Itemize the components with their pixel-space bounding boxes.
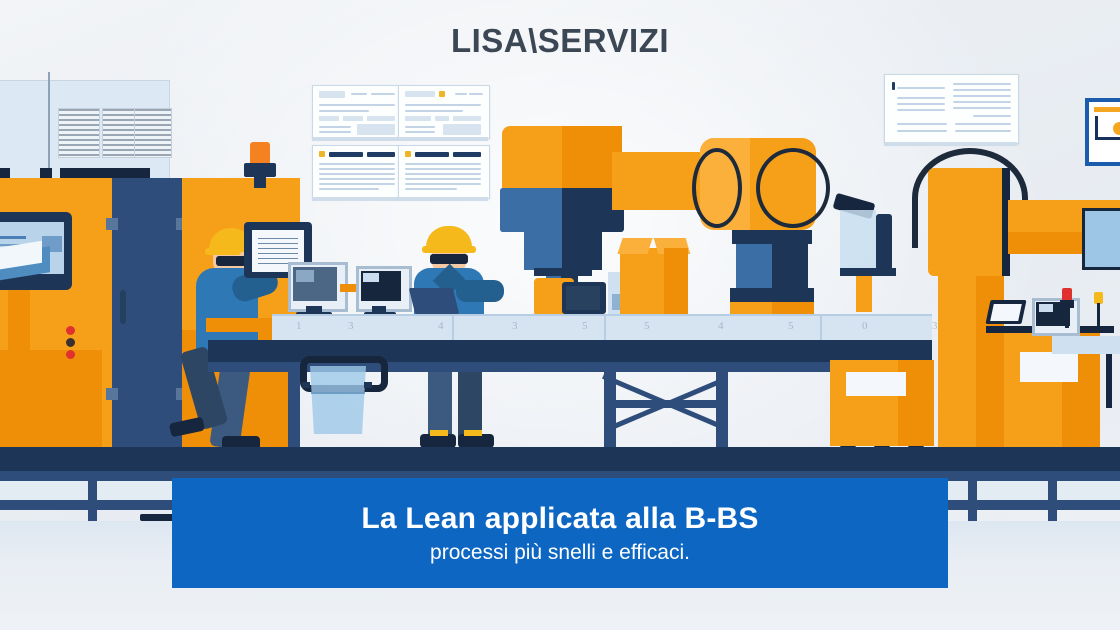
belt-mark-9: 3 [932, 320, 938, 332]
conveyor-device-screen [566, 286, 600, 310]
belt-mark-4: 5 [582, 320, 588, 332]
monitor-2-screen-win [363, 273, 379, 282]
cardboard-box-shade [664, 248, 688, 316]
conveyor-leg-1 [288, 372, 300, 448]
wall-chart-poster [1085, 98, 1120, 166]
banner-subtitle: processi più snelli e efficaci. [430, 541, 690, 564]
robot-gripper-rail [840, 268, 896, 276]
robot-base-upper [732, 230, 812, 244]
press-ram-plate [534, 268, 592, 276]
cardboard-box-flap-left [617, 238, 652, 254]
status-lamp-dark [66, 338, 75, 347]
machine-door-handle [120, 290, 126, 324]
robot-gripper-body [876, 214, 892, 270]
vent-grille-3 [134, 108, 172, 158]
robot-base-plate [730, 288, 814, 302]
spindle-holder [244, 163, 276, 177]
worker-left-helmet-brim [205, 248, 241, 255]
worker-center-arm [456, 280, 504, 302]
status-lamp-red-bottom [66, 350, 75, 359]
hmi-screen-line-1 [0, 236, 26, 239]
panel-divider [48, 72, 50, 170]
belt-mark-0: 1 [296, 320, 302, 332]
status-lamp-red-top [66, 326, 75, 335]
wall-poster-3 [312, 145, 404, 199]
robot-gripper-part [840, 210, 876, 268]
worker-center-laptop [409, 288, 459, 314]
robot-gripper-post [856, 276, 872, 312]
banner-title: La Lean applicata alla B-BS [361, 502, 758, 535]
waste-bin-clip-right [364, 382, 372, 388]
signal-lamp-yellow-pole [1097, 303, 1100, 329]
wall-poster-2-shadow [398, 137, 488, 141]
monitor-1-screen-win [296, 270, 314, 282]
conveyor-belt-seam-3 [820, 314, 822, 340]
belt-mark-6: 4 [718, 320, 724, 332]
wall-poster-1-shadow [312, 137, 402, 141]
workstation-monitor-screen-win [1039, 304, 1053, 312]
worker-center-shoecap-left [430, 430, 448, 436]
spindle-shaft [254, 176, 266, 188]
worker-center-shoe-right [458, 434, 494, 448]
belt-mark-7: 5 [788, 320, 794, 332]
machine-body-left-shade [0, 350, 102, 453]
floor-rail-post-6 [968, 471, 977, 521]
title-banner: La Lean applicata alla B-BS processi più… [172, 478, 948, 588]
belt-mark-5: 5 [644, 320, 650, 332]
machine-door-hinge-top [106, 218, 118, 230]
worker-center-shoecap-right [464, 430, 482, 436]
conveyor-belt-seam-2 [604, 314, 606, 340]
machine-door-hinge-bottom [106, 388, 118, 400]
worker-left-doc-lines [258, 238, 298, 264]
wall-poster-1 [312, 85, 404, 139]
robot2-head [928, 168, 1010, 276]
workstation-cabinet-label [1020, 352, 1078, 382]
conveyor-belt-surface [272, 314, 932, 342]
worker-center-helmet-brim [422, 246, 476, 253]
robot-joint-ring-left [692, 148, 742, 228]
wall-poster-right [884, 74, 1019, 144]
wall-poster-right-shadow [884, 142, 1017, 146]
signal-lamp-red-pole [1065, 306, 1069, 328]
poster-canvas: LISA\SERVIZI [0, 0, 1120, 630]
wall-poster-4-shadow [398, 197, 488, 201]
floor-rail-post-1 [88, 471, 97, 521]
belt-mark-2: 4 [438, 320, 444, 332]
waste-bin-body [310, 366, 366, 434]
press-ram-mid-hl [524, 232, 562, 270]
waste-bin-clip-left [302, 382, 310, 388]
robot-joint-ring-right [756, 148, 830, 228]
robot2-screen [1082, 208, 1120, 270]
press-ram-upper-hl [500, 188, 562, 232]
hmi-stand [8, 290, 30, 350]
belt-mark-8: 0 [862, 320, 868, 332]
wall-poster-2 [398, 85, 490, 139]
brand-logo: LISA\SERVIZI [0, 22, 1120, 60]
pallet-cart-label [846, 372, 906, 396]
belt-mark-3: 3 [512, 320, 518, 332]
wall-poster-3-shadow [312, 197, 402, 201]
floor-band-top [0, 447, 1120, 471]
wall-poster-4 [398, 145, 490, 199]
waste-bin-band [311, 392, 365, 394]
vent-grille-1 [58, 108, 100, 158]
workstation-tablet-screen [990, 304, 1022, 321]
conveyor-belt-seam-1 [452, 314, 454, 340]
workstation-desk-leg [1106, 354, 1112, 408]
vent-grille-2 [102, 108, 136, 158]
worker-center-shoe-left [420, 434, 456, 448]
belt-mark-1: 3 [348, 320, 354, 332]
floor-rail-post-7 [1048, 471, 1057, 521]
workstation-desk-surface [1052, 336, 1120, 354]
